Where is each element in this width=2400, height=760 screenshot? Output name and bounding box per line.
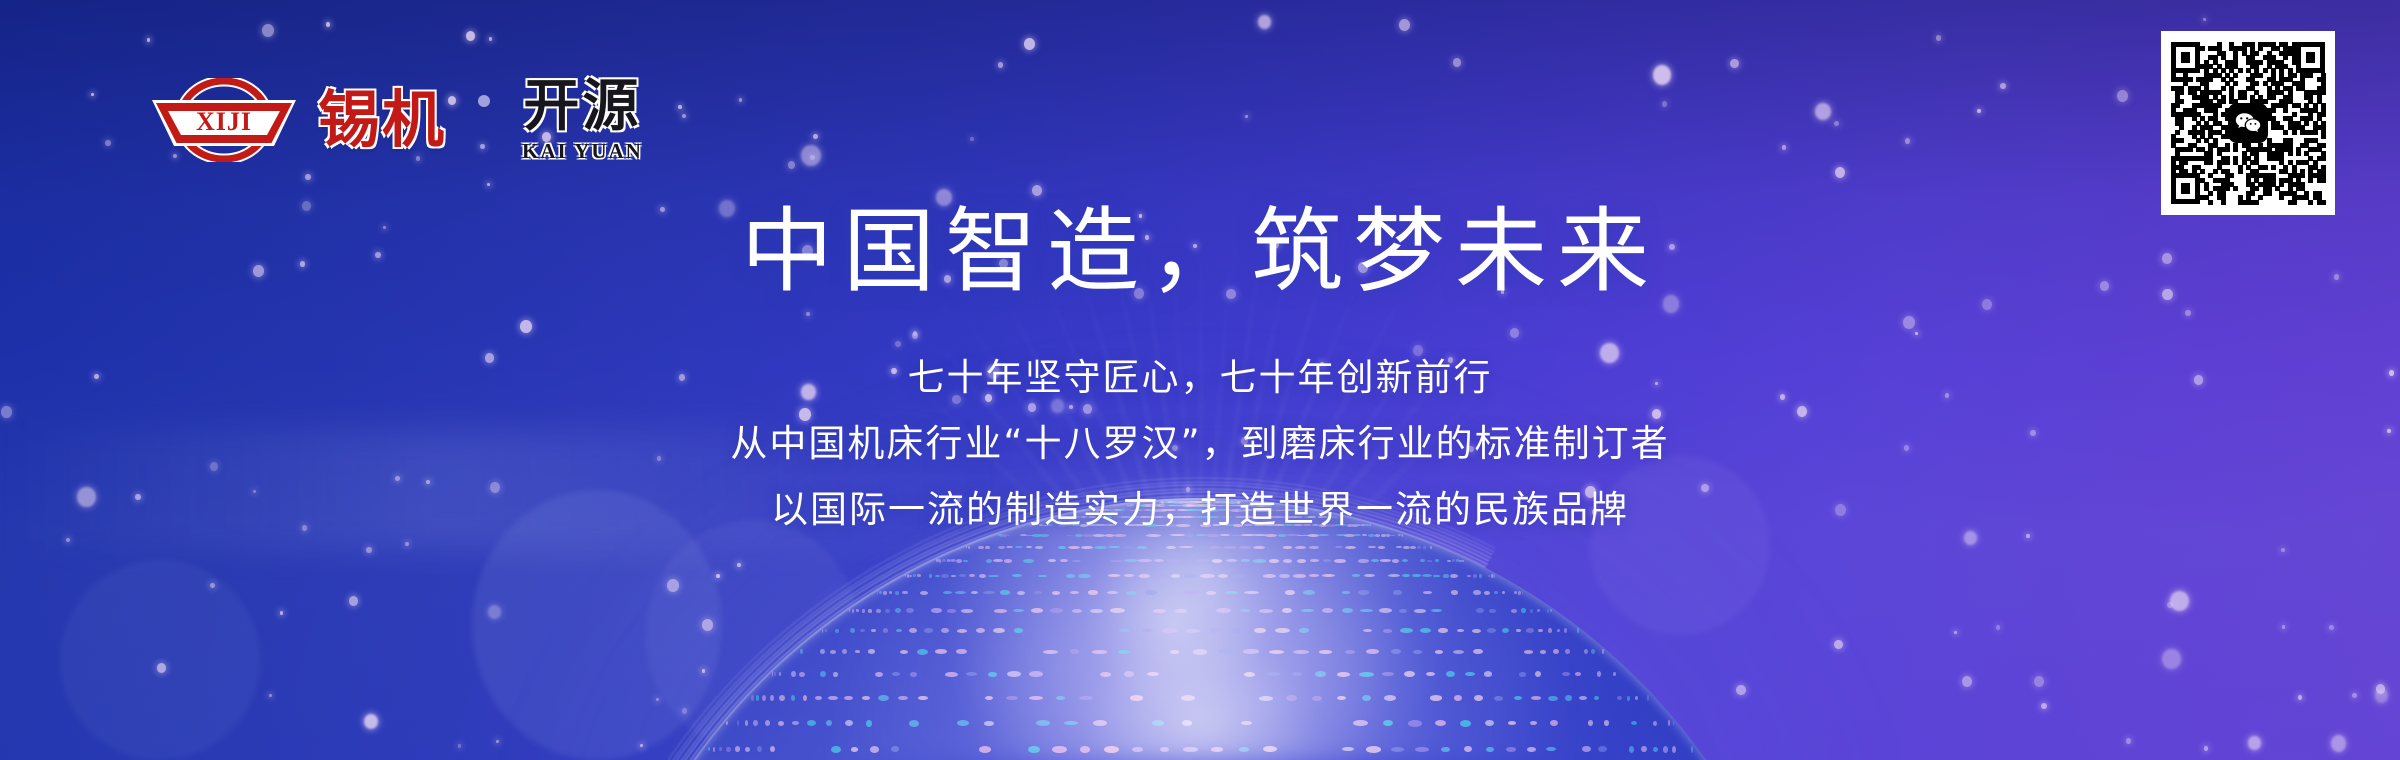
particle-dot bbox=[2117, 90, 2128, 102]
particle-dot bbox=[2034, 676, 2044, 687]
brand-name-cn: 锡机 bbox=[318, 89, 446, 151]
particle-dot bbox=[813, 134, 818, 139]
particle-dot bbox=[2203, 18, 2206, 21]
particle-dot bbox=[2329, 625, 2334, 630]
particle-dot bbox=[1024, 38, 1035, 50]
particle-dot bbox=[1936, 35, 1941, 41]
qr-module bbox=[2292, 200, 2297, 205]
particle-dot bbox=[1834, 640, 1843, 649]
particle-dot bbox=[1258, 15, 1271, 29]
particle-dot bbox=[489, 37, 492, 41]
subtitle-line: 七十年坚守匠心，七十年创新前行 bbox=[0, 345, 2400, 411]
qr-module bbox=[2258, 73, 2263, 78]
particle-dot bbox=[682, 114, 686, 118]
particle-dot bbox=[682, 708, 687, 714]
qr-module bbox=[2208, 200, 2213, 205]
particle-dot bbox=[1032, 185, 1042, 196]
particle-dot bbox=[2162, 649, 2181, 669]
particle-dot bbox=[364, 714, 378, 729]
particle-dot bbox=[678, 105, 682, 109]
particle-dot bbox=[810, 155, 815, 160]
qr-module bbox=[2233, 186, 2238, 191]
particle-dot bbox=[2248, 736, 2261, 750]
particle-dot bbox=[788, 161, 795, 169]
particle-dot bbox=[2375, 689, 2388, 703]
wechat-logo-icon bbox=[2228, 103, 2268, 143]
particle-dot bbox=[1954, 631, 1957, 634]
qr-matrix bbox=[2171, 42, 2325, 204]
particle-dot bbox=[2281, 548, 2285, 552]
particle-dot bbox=[466, 31, 475, 41]
particle-dot bbox=[1996, 625, 2000, 630]
partner-name-cn: 开源 bbox=[522, 79, 643, 135]
particle-dot bbox=[2126, 738, 2131, 744]
qr-module bbox=[2238, 169, 2243, 174]
particle-dot bbox=[2041, 703, 2047, 709]
particle-dot bbox=[970, 137, 974, 141]
particle-dot bbox=[702, 619, 713, 631]
particle-dot bbox=[1730, 59, 1739, 68]
particle-dot bbox=[1653, 65, 1671, 85]
qr-module bbox=[2283, 108, 2288, 113]
particle-dot bbox=[2204, 746, 2208, 751]
particle-dot bbox=[326, 22, 330, 27]
qr-module bbox=[2271, 95, 2276, 100]
particle-dot bbox=[2352, 693, 2357, 698]
subtitle-line: 以国际一流的制造实力，打造世界一流的民族品牌 bbox=[0, 477, 2400, 543]
qr-module bbox=[2267, 191, 2272, 196]
particle-dot bbox=[737, 563, 741, 567]
particle-dot bbox=[1834, 121, 1839, 126]
particle-dot bbox=[157, 663, 166, 673]
qr-module bbox=[2321, 134, 2326, 139]
qr-module bbox=[2321, 178, 2326, 183]
qr-module bbox=[2242, 95, 2247, 100]
particle-dot bbox=[2282, 625, 2285, 629]
subtitle-line: 从中国机床行业“十八罗汉”，到磨床行业的标准制订者 bbox=[0, 411, 2400, 477]
particle-dot bbox=[269, 694, 272, 697]
particle-dot bbox=[2000, 83, 2006, 89]
promo-banner: XIJI 锡机 开源 KAI YUAN 中国智造，筑梦未来 七十年坚守匠心，七十… bbox=[0, 0, 2400, 760]
particle-dot bbox=[1736, 685, 1746, 695]
particle-dot bbox=[349, 596, 358, 606]
qr-module bbox=[2283, 130, 2288, 135]
qr-module bbox=[2313, 130, 2318, 135]
xiji-shield-emblem-icon: XIJI bbox=[148, 78, 300, 162]
hero-copy: 中国智造，筑梦未来 七十年坚守匠心，七十年创新前行 从中国机床行业“十八罗汉”，… bbox=[0, 202, 2400, 543]
qr-module bbox=[2200, 169, 2205, 174]
partner-logo: 开源 KAI YUAN bbox=[522, 79, 643, 162]
qr-module bbox=[2188, 147, 2193, 152]
particle-dot bbox=[91, 93, 94, 96]
particle-dot bbox=[1815, 103, 1831, 120]
qr-module bbox=[2321, 200, 2326, 205]
qr-module bbox=[2200, 46, 2205, 51]
qr-module bbox=[2308, 178, 2313, 183]
svg-text:XIJI: XIJI bbox=[196, 107, 252, 136]
particle-dot bbox=[656, 698, 659, 701]
particle-dot bbox=[262, 24, 274, 37]
particle-dot bbox=[716, 574, 720, 578]
particle-dot bbox=[1245, 115, 1248, 118]
qr-module bbox=[2225, 160, 2230, 165]
partner-name-en: KAI YUAN bbox=[522, 141, 643, 162]
particle-dot bbox=[1782, 145, 1786, 150]
particle-dot bbox=[1905, 138, 1910, 144]
particle-dot bbox=[280, 611, 283, 615]
particle-dot bbox=[366, 547, 372, 553]
qr-module bbox=[2308, 73, 2313, 78]
particle-dot bbox=[1453, 58, 1461, 67]
particle-dot bbox=[702, 669, 705, 673]
qr-module bbox=[2263, 165, 2268, 170]
page-title: 中国智造，筑梦未来 bbox=[0, 202, 2400, 303]
qr-finder-pattern bbox=[2171, 42, 2200, 73]
subtitle-group: 七十年坚守匠心，七十年创新前行 从中国机床行业“十八罗汉”，到磨床行业的标准制订… bbox=[0, 345, 2400, 543]
particle-dot bbox=[1977, 109, 1981, 113]
logo-lockup[interactable]: XIJI 锡机 开源 KAI YUAN bbox=[148, 78, 643, 162]
qr-module bbox=[2308, 200, 2313, 205]
particle-dot bbox=[1962, 676, 1972, 687]
particle-dot bbox=[2170, 591, 2189, 611]
particle-dot bbox=[1662, 101, 1667, 107]
wechat-qr-code[interactable] bbox=[2161, 31, 2335, 215]
particle-dot bbox=[488, 605, 501, 619]
qr-module bbox=[2296, 151, 2301, 156]
qr-module bbox=[2208, 160, 2213, 165]
particle-dot bbox=[667, 579, 679, 592]
particle-dot bbox=[210, 583, 215, 588]
particle-dot bbox=[2331, 735, 2346, 752]
particle-dot bbox=[998, 62, 1003, 68]
qr-module bbox=[2254, 200, 2259, 205]
qr-module bbox=[2271, 165, 2276, 170]
qr-module bbox=[2225, 147, 2230, 152]
particle-dot bbox=[458, 744, 461, 748]
qr-module bbox=[2179, 138, 2184, 143]
particle-dot bbox=[147, 38, 150, 42]
qr-module bbox=[2233, 147, 2238, 152]
qr-module bbox=[2279, 195, 2284, 200]
particle-dot bbox=[305, 174, 311, 180]
qr-module bbox=[2292, 130, 2297, 135]
particle-dot bbox=[739, 98, 742, 102]
qr-module bbox=[2288, 151, 2293, 156]
particle-dot bbox=[1399, 19, 1410, 31]
particle-dot bbox=[487, 183, 490, 186]
particle-dot bbox=[2298, 695, 2302, 700]
particle-dot bbox=[1835, 167, 1845, 178]
particle-dot bbox=[640, 744, 643, 747]
particle-dot bbox=[496, 740, 499, 743]
logo-separator-dot bbox=[478, 95, 490, 107]
qr-module bbox=[2221, 200, 2226, 205]
qr-module bbox=[2321, 156, 2326, 161]
qr-finder-pattern bbox=[2171, 173, 2200, 204]
qr-finder-pattern bbox=[2296, 42, 2325, 73]
particle-dot bbox=[105, 140, 111, 146]
